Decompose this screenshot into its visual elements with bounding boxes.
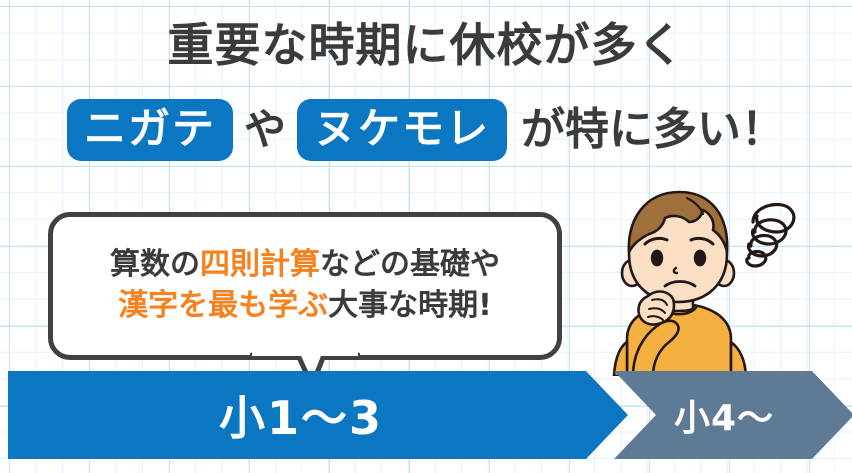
headline-line-1: 重要な時期に休校が多く <box>0 22 852 68</box>
speech-bubble-line-1: 算数の四則計算などの基礎や <box>110 247 500 284</box>
headline-suffix: が特に多い！ <box>507 108 785 152</box>
bubble-text-plain-b: などの基礎や <box>320 247 500 282</box>
infographic-canvas: 重要な時期に休校が多く ニガテ や ヌケモレ が特に多い！ 算数の四則計算などの… <box>0 0 852 473</box>
badge-nigate: ニガテ <box>67 99 233 161</box>
grade-timeline-bar: 小4〜 小1〜3 <box>0 371 852 459</box>
timeline-segment-grade4up[interactable]: 小4〜 <box>614 371 852 459</box>
conjunction-ya: や <box>233 109 297 151</box>
thought-spiral-icon <box>747 204 794 266</box>
badge-nukemore: ヌケモレ <box>297 99 507 161</box>
speech-bubble: 算数の四則計算などの基礎や 漢字を最も学ぶ大事な時期! <box>48 212 562 360</box>
bubble-text-plain-c: 大事な時期! <box>328 288 492 323</box>
bubble-text-highlight-2: 漢字を最も学ぶ <box>118 288 328 323</box>
bubble-text-highlight-1: 四則計算 <box>200 247 320 282</box>
timeline-segment-grade1to3[interactable]: 小1〜3 <box>8 371 628 459</box>
headline-line-2: ニガテ や ヌケモレ が特に多い！ <box>0 99 852 161</box>
speech-bubble-line-2: 漢字を最も学ぶ大事な時期! <box>118 288 492 325</box>
bubble-text-plain-a: 算数の <box>110 247 200 282</box>
timeline-secondary-label: 小4〜 <box>674 389 774 441</box>
worried-boy-illustration <box>603 176 843 376</box>
timeline-primary-label: 小1〜3 <box>219 382 383 448</box>
